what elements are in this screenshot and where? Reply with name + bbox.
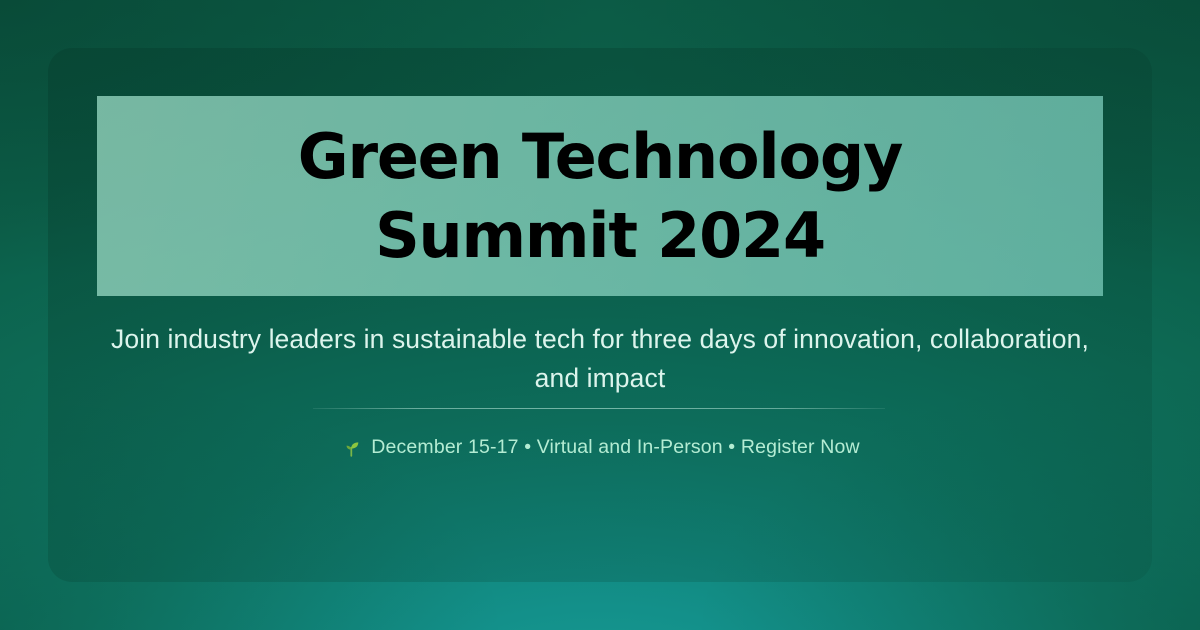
page-title-line-2: Summit 2024 (375, 196, 825, 275)
seedling-icon (340, 437, 362, 459)
page-title-line-1: Green Technology (298, 117, 902, 196)
hero-subtitle: Join industry leaders in sustainable tec… (90, 320, 1110, 397)
meta-divider (313, 408, 885, 409)
title-highlight-band: Green Technology Summit 2024 (97, 96, 1103, 296)
hero-card: Green Technology Summit 2024 Join indust… (48, 48, 1152, 582)
event-meta[interactable]: December 15-17 • Virtual and In-Person •… (340, 436, 859, 459)
event-meta-text: December 15-17 • Virtual and In-Person •… (371, 436, 859, 459)
